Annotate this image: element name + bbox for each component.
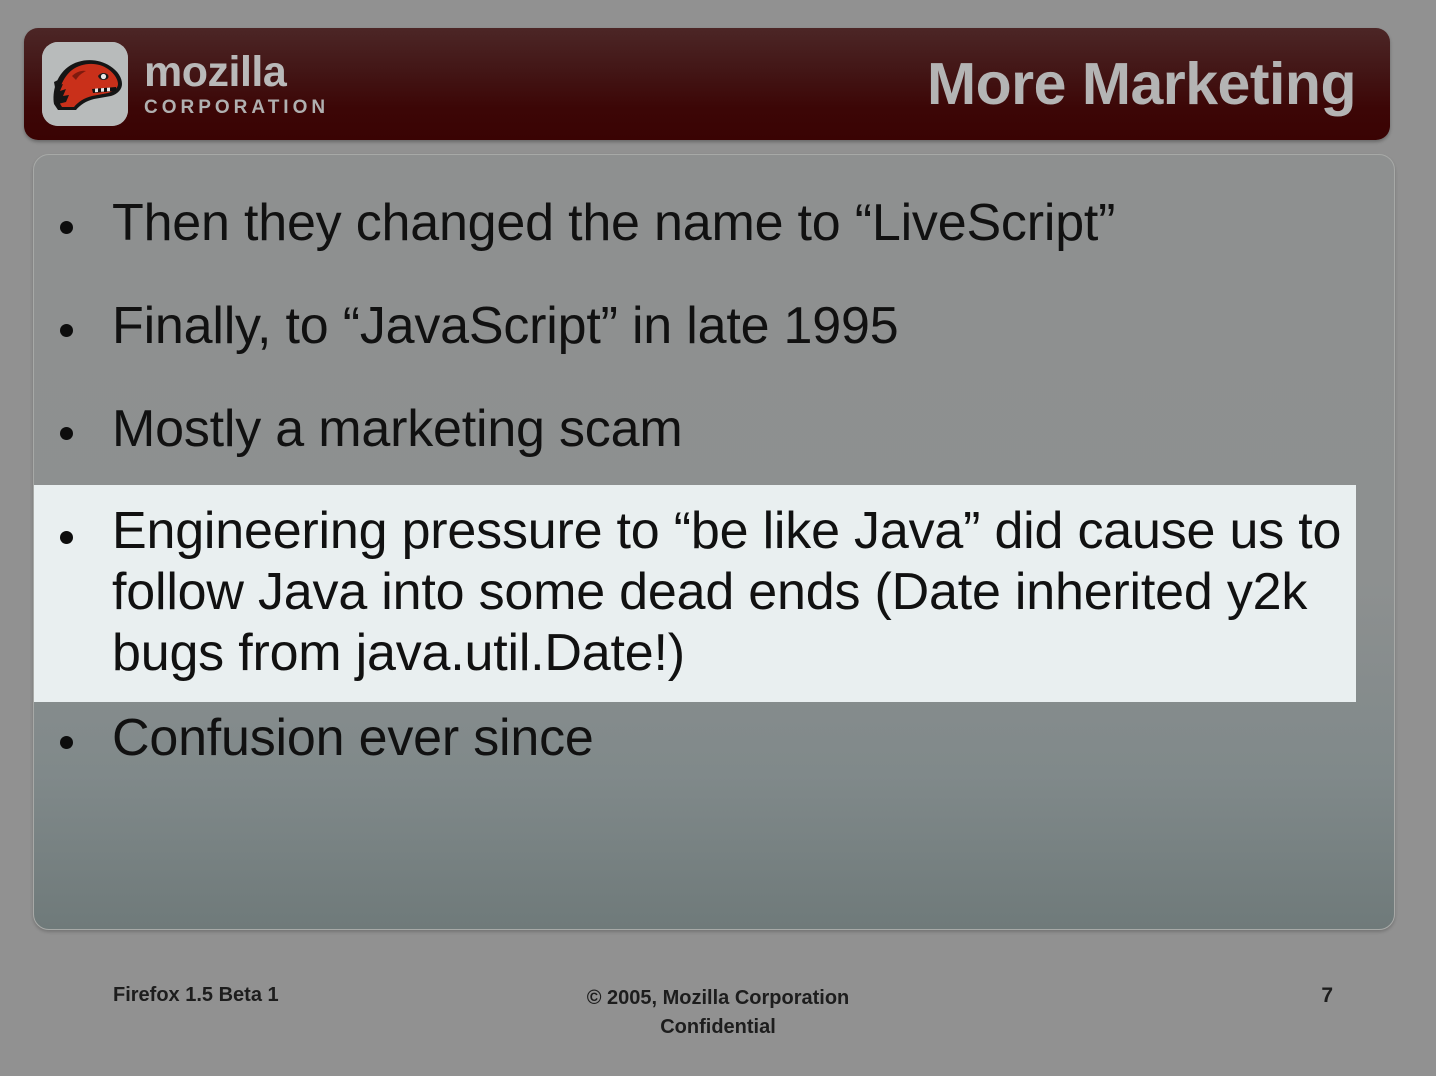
list-item: Then they changed the name to “LiveScrip… (34, 193, 1394, 254)
footer-copyright-line1: © 2005, Mozilla Corporation (0, 984, 1436, 1013)
slide-content-panel: Then they changed the name to “LiveScrip… (33, 154, 1395, 930)
bullet-dot-icon (60, 531, 73, 544)
footer-confidential-line: Confidential (0, 1013, 1436, 1042)
mozilla-wordmark: mozilla CORPORATION (144, 51, 329, 117)
slide-header: mozilla CORPORATION More Marketing (24, 28, 1390, 140)
mozilla-brand: mozilla CORPORATION (42, 42, 329, 126)
list-item: Mostly a marketing scam (34, 399, 1394, 460)
bullet-dot-icon (60, 221, 73, 234)
bullet-text: Mostly a marketing scam (112, 399, 682, 460)
bullet-text-highlighted: Engineering pressure to “be like Java” d… (112, 501, 1346, 683)
mozilla-dinosaur-icon (42, 42, 128, 126)
bullet-dot-icon (60, 736, 73, 749)
list-item: Finally, to “JavaScript” in late 1995 (34, 296, 1394, 357)
bullet-list: Then they changed the name to “LiveScrip… (34, 193, 1394, 769)
bullet-dot-icon (60, 324, 73, 337)
list-item-highlighted: Engineering pressure to “be like Java” d… (34, 485, 1356, 701)
page-number: 7 (1321, 984, 1333, 1008)
brand-subtitle: CORPORATION (144, 98, 329, 117)
bullet-dot-icon (60, 427, 73, 440)
bullet-text: Confusion ever since (112, 708, 594, 769)
slide-title: More Marketing (329, 50, 1356, 118)
slide-footer: Firefox 1.5 Beta 1 © 2005, Mozilla Corpo… (0, 978, 1436, 1058)
footer-copyright: © 2005, Mozilla Corporation Confidential (0, 984, 1436, 1042)
bullet-text: Then they changed the name to “LiveScrip… (112, 193, 1115, 254)
bullet-text: Finally, to “JavaScript” in late 1995 (112, 296, 898, 357)
brand-name: mozilla (144, 51, 329, 94)
list-item: Confusion ever since (34, 708, 1394, 769)
